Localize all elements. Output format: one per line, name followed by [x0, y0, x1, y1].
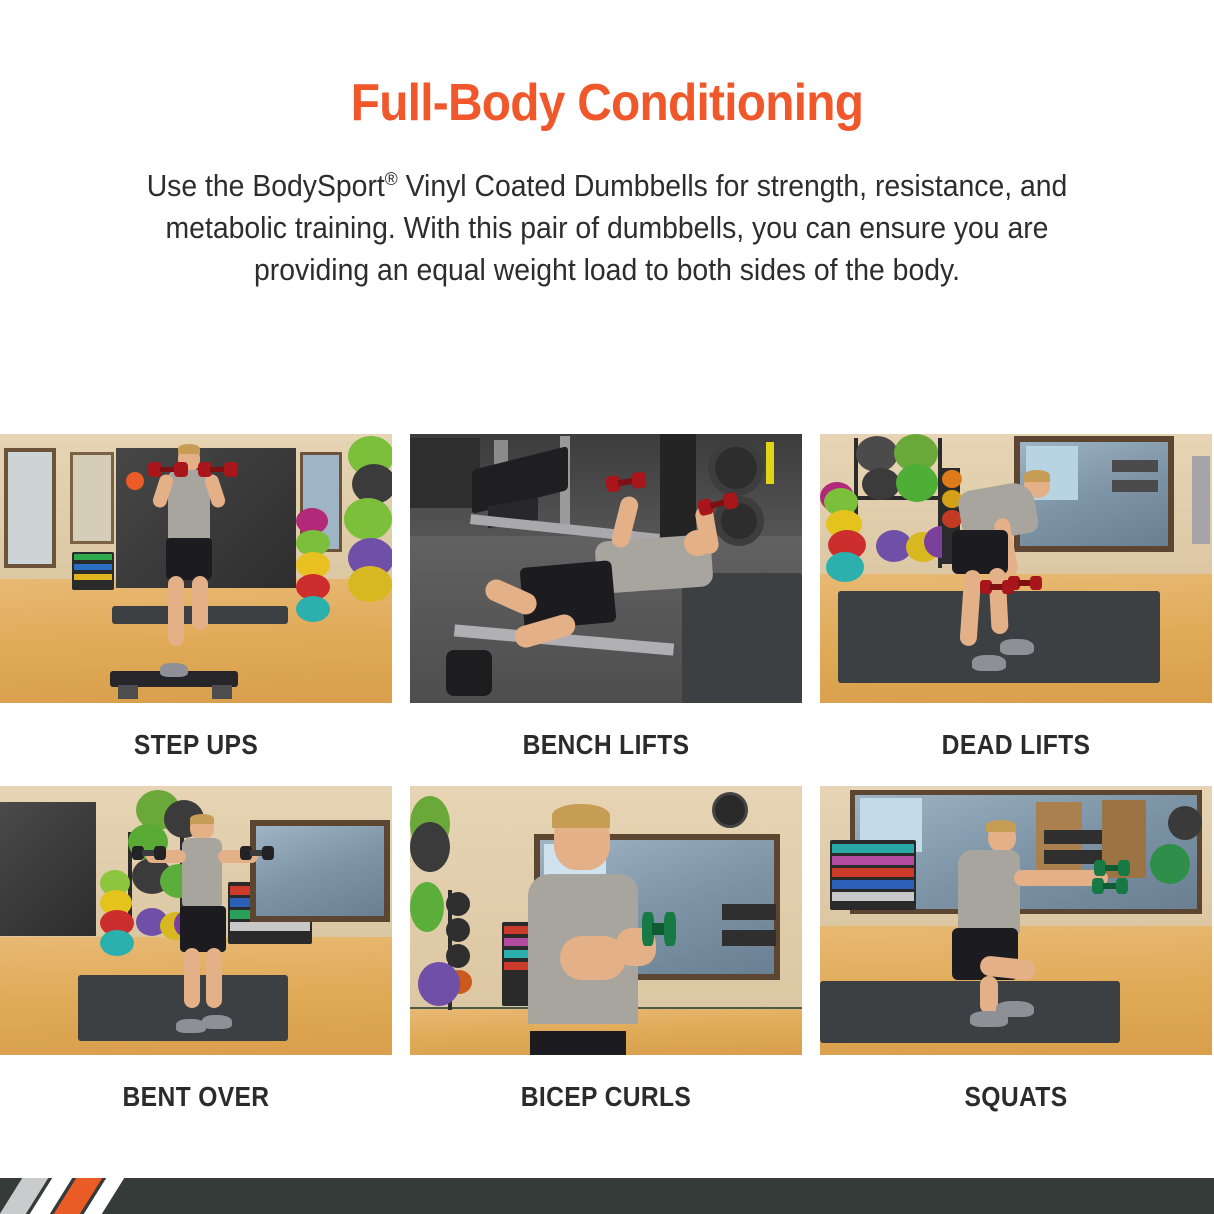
exercise-photo-grid: STEP UPS	[0, 434, 1214, 1138]
exercise-row-2: BENT OVER	[0, 786, 1214, 1138]
exercise-card-step-ups: STEP UPS	[0, 434, 392, 761]
exercise-card-bent-over: BENT OVER	[0, 786, 392, 1113]
exercise-photo-bent-over	[0, 786, 392, 1055]
exercise-card-bicep-curls: BICEP CURLS	[410, 786, 802, 1113]
exercise-caption-step-ups: STEP UPS	[24, 729, 369, 761]
exercise-caption-bent-over: BENT OVER	[24, 1081, 369, 1113]
exercise-caption-bicep-curls: BICEP CURLS	[434, 1081, 779, 1113]
bottom-accent-bar	[0, 1178, 1214, 1214]
registered-trademark-symbol: ®	[385, 168, 398, 189]
exercise-card-bench-lifts: BENCH LIFTS	[410, 434, 802, 761]
exercise-caption-dead-lifts: DEAD LIFTS	[844, 729, 1189, 761]
header-section: Full-Body Conditioning Use the BodySport…	[0, 0, 1214, 291]
exercise-row-1: STEP UPS	[0, 434, 1214, 786]
exercise-photo-squats	[820, 786, 1212, 1055]
exercise-photo-bicep-curls	[410, 786, 802, 1055]
exercise-card-squats: SQUATS	[820, 786, 1212, 1113]
exercise-caption-squats: SQUATS	[844, 1081, 1189, 1113]
exercise-caption-bench-lifts: BENCH LIFTS	[434, 729, 779, 761]
intro-text-before: Use the BodySport	[147, 169, 385, 203]
page-title: Full-Body Conditioning	[49, 76, 1166, 131]
exercise-photo-step-ups	[0, 434, 392, 703]
exercise-photo-dead-lifts	[820, 434, 1212, 703]
exercise-photo-bench-lifts	[410, 434, 802, 703]
intro-paragraph: Use the BodySport® Vinyl Coated Dumbbell…	[119, 165, 1096, 291]
exercise-card-dead-lifts: DEAD LIFTS	[820, 434, 1212, 761]
